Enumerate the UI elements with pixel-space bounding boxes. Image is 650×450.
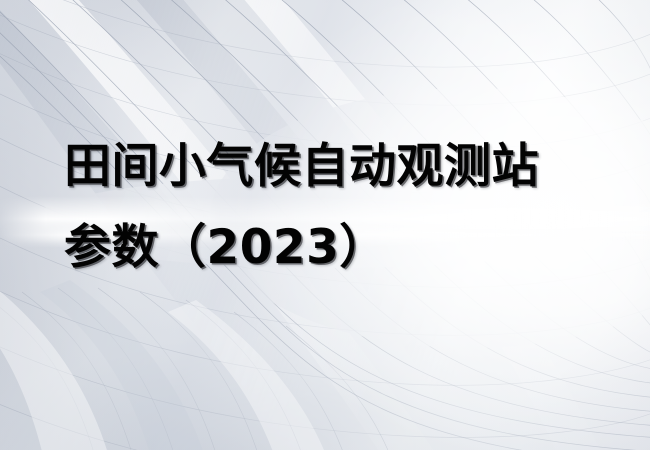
page-title: 田间小气候自动观测站 参数（2023） — [64, 126, 604, 288]
page-title-line-2: 参数（2023） — [64, 207, 604, 288]
page-title-line-1: 田间小气候自动观测站 — [64, 126, 604, 207]
poster-canvas: 田间小气候自动观测站 参数（2023） — [0, 0, 650, 450]
